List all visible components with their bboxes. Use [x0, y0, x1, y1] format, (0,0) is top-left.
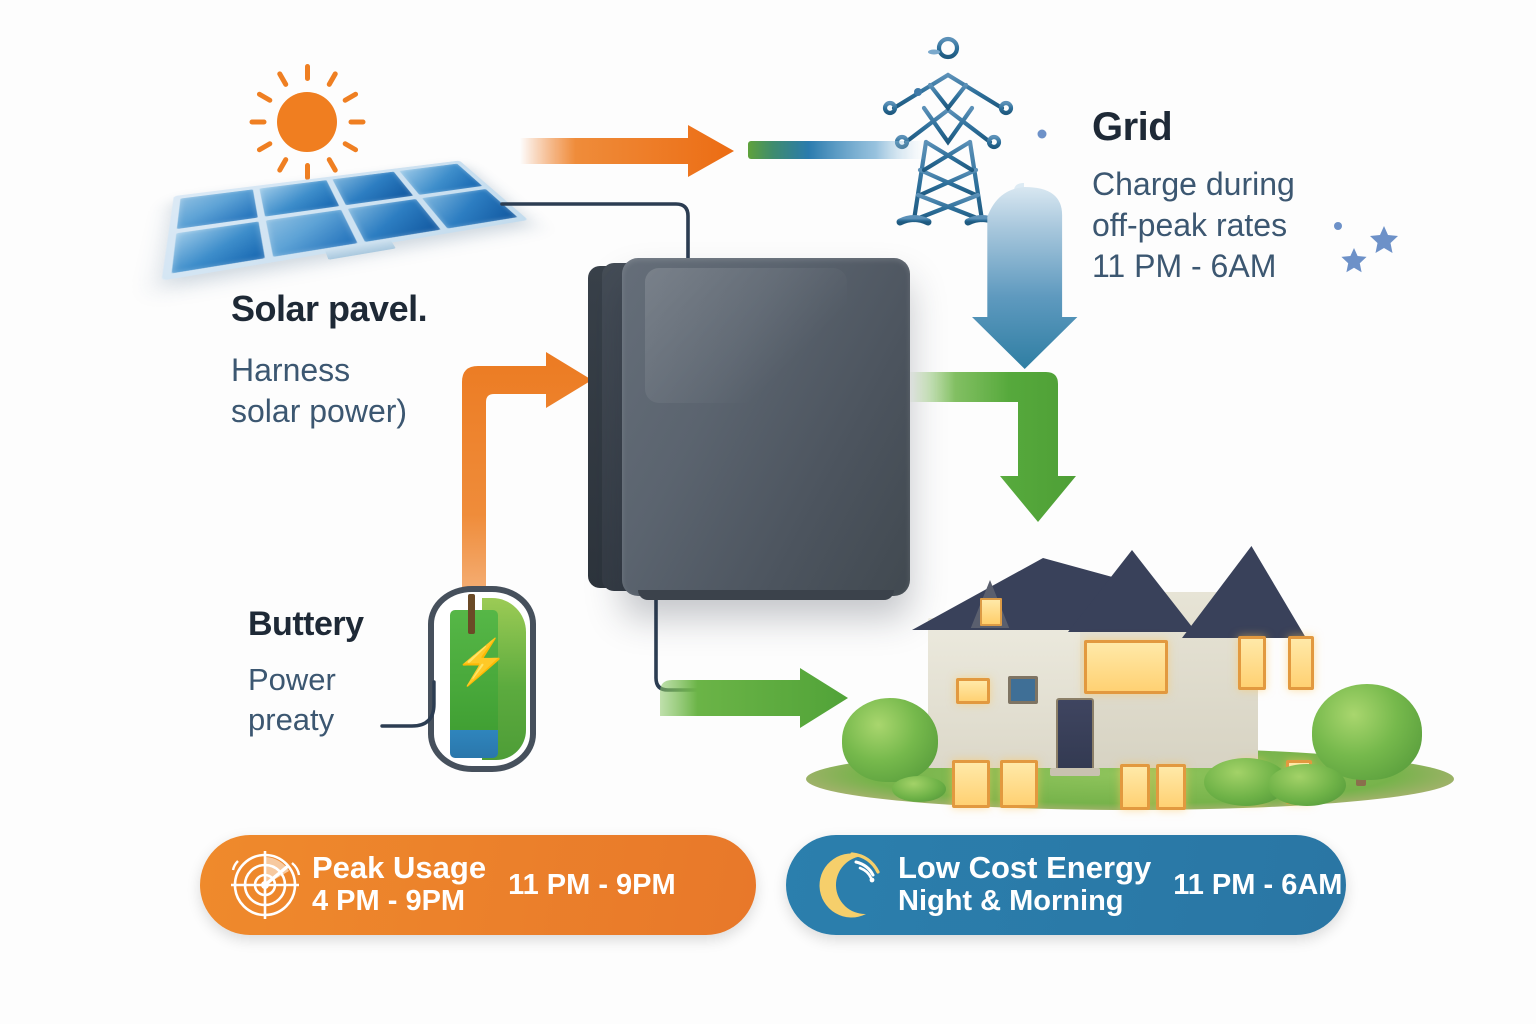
bolt-icon: ⚡ [454, 636, 494, 694]
battery-label-block: Buttery Power preaty [248, 605, 364, 739]
grid-subtitle-line3: 11 PM - 6AM [1092, 246, 1295, 287]
peak-usage-subtitle: 4 PM - 9PM [312, 886, 486, 918]
window-upper-right-a [1238, 636, 1266, 690]
grid-title: Grid [1092, 105, 1295, 150]
low-cost-energy-time: 11 PM - 6AM [1173, 869, 1342, 902]
low-cost-energy-subtitle: Night & Morning [898, 886, 1151, 918]
window-lower-left-b [1000, 760, 1038, 808]
sun-icon [247, 62, 367, 182]
window-upper-left-b [1008, 676, 1038, 704]
peak-usage-texts: Peak Usage 4 PM - 9PM [312, 852, 486, 918]
window-lower-left-a [952, 760, 990, 808]
tree-right [1312, 684, 1422, 780]
unit-to-house-green-arrow [908, 368, 1078, 528]
battery-to-unit-arrow [450, 358, 610, 608]
battery-leader-line [378, 660, 458, 740]
peak-usage-pill[interactable]: Peak Usage 4 PM - 9PM 11 PM - 9PM [200, 835, 756, 935]
crescent-moon-icon [812, 846, 890, 924]
battery-subtitle: Power preaty [248, 660, 364, 739]
dormer-window [980, 598, 1002, 626]
low-cost-energy-texts: Low Cost Energy Night & Morning [898, 852, 1151, 918]
low-cost-energy-pill[interactable]: Low Cost Energy Night & Morning 11 PM - … [786, 835, 1346, 935]
solar-subtitle-line2: solar power) [231, 391, 427, 432]
window-lower-center-b [1156, 764, 1186, 810]
grid-feed-bar [748, 139, 928, 163]
house-illustration [800, 520, 1460, 810]
solar-panel-cells [172, 164, 518, 274]
door-step [1050, 768, 1100, 776]
battery-terminal [468, 594, 475, 634]
tower-dot-decoration [900, 40, 950, 120]
low-cost-energy-label: Low Cost Energy [898, 852, 1151, 885]
solar-subtitle: Harness solar power) [231, 350, 427, 432]
grid-subtitle-line1: Charge during [1092, 164, 1295, 205]
grid-label-block: Grid Charge during off-peak rates 11 PM … [1092, 105, 1295, 287]
peak-usage-time: 11 PM - 9PM [508, 869, 676, 902]
gauge-radar-icon [226, 846, 304, 924]
grid-subtitle: Charge during off-peak rates 11 PM - 6AM [1092, 164, 1295, 287]
battery-title: Buttery [248, 605, 364, 644]
window-lower-center-a [1120, 764, 1150, 810]
solar-label-block: Solar pavel. Harness solar power) [231, 288, 427, 432]
grid-to-unit-arrow [1000, 185, 1120, 375]
solar-panel-frame [162, 161, 529, 281]
peak-usage-label: Peak Usage [312, 852, 486, 885]
window-upper-right-b [1288, 636, 1314, 690]
infographic-canvas: Solar pavel. Harness solar power) [0, 0, 1536, 1024]
window-upper-center [1084, 640, 1168, 694]
sun-core [277, 92, 337, 152]
tree-left [842, 698, 938, 782]
grid-subtitle-line2: off-peak rates [1092, 205, 1295, 246]
bush-left [892, 776, 946, 802]
battery-subtitle-line1: Power [248, 660, 364, 700]
bush-right [1268, 764, 1346, 806]
front-door[interactable] [1056, 698, 1094, 770]
star-dot-decoration [1030, 120, 1070, 160]
solar-title: Solar pavel. [231, 288, 427, 330]
battery-subtitle-line2: preaty [248, 700, 364, 740]
star-decorations [1330, 200, 1440, 280]
solar-to-grid-arrow [520, 125, 750, 187]
solar-subtitle-line1: Harness [231, 350, 427, 391]
unit-highlight [645, 268, 847, 403]
window-upper-left-a [956, 678, 990, 704]
solar-panel-icon [162, 161, 529, 281]
